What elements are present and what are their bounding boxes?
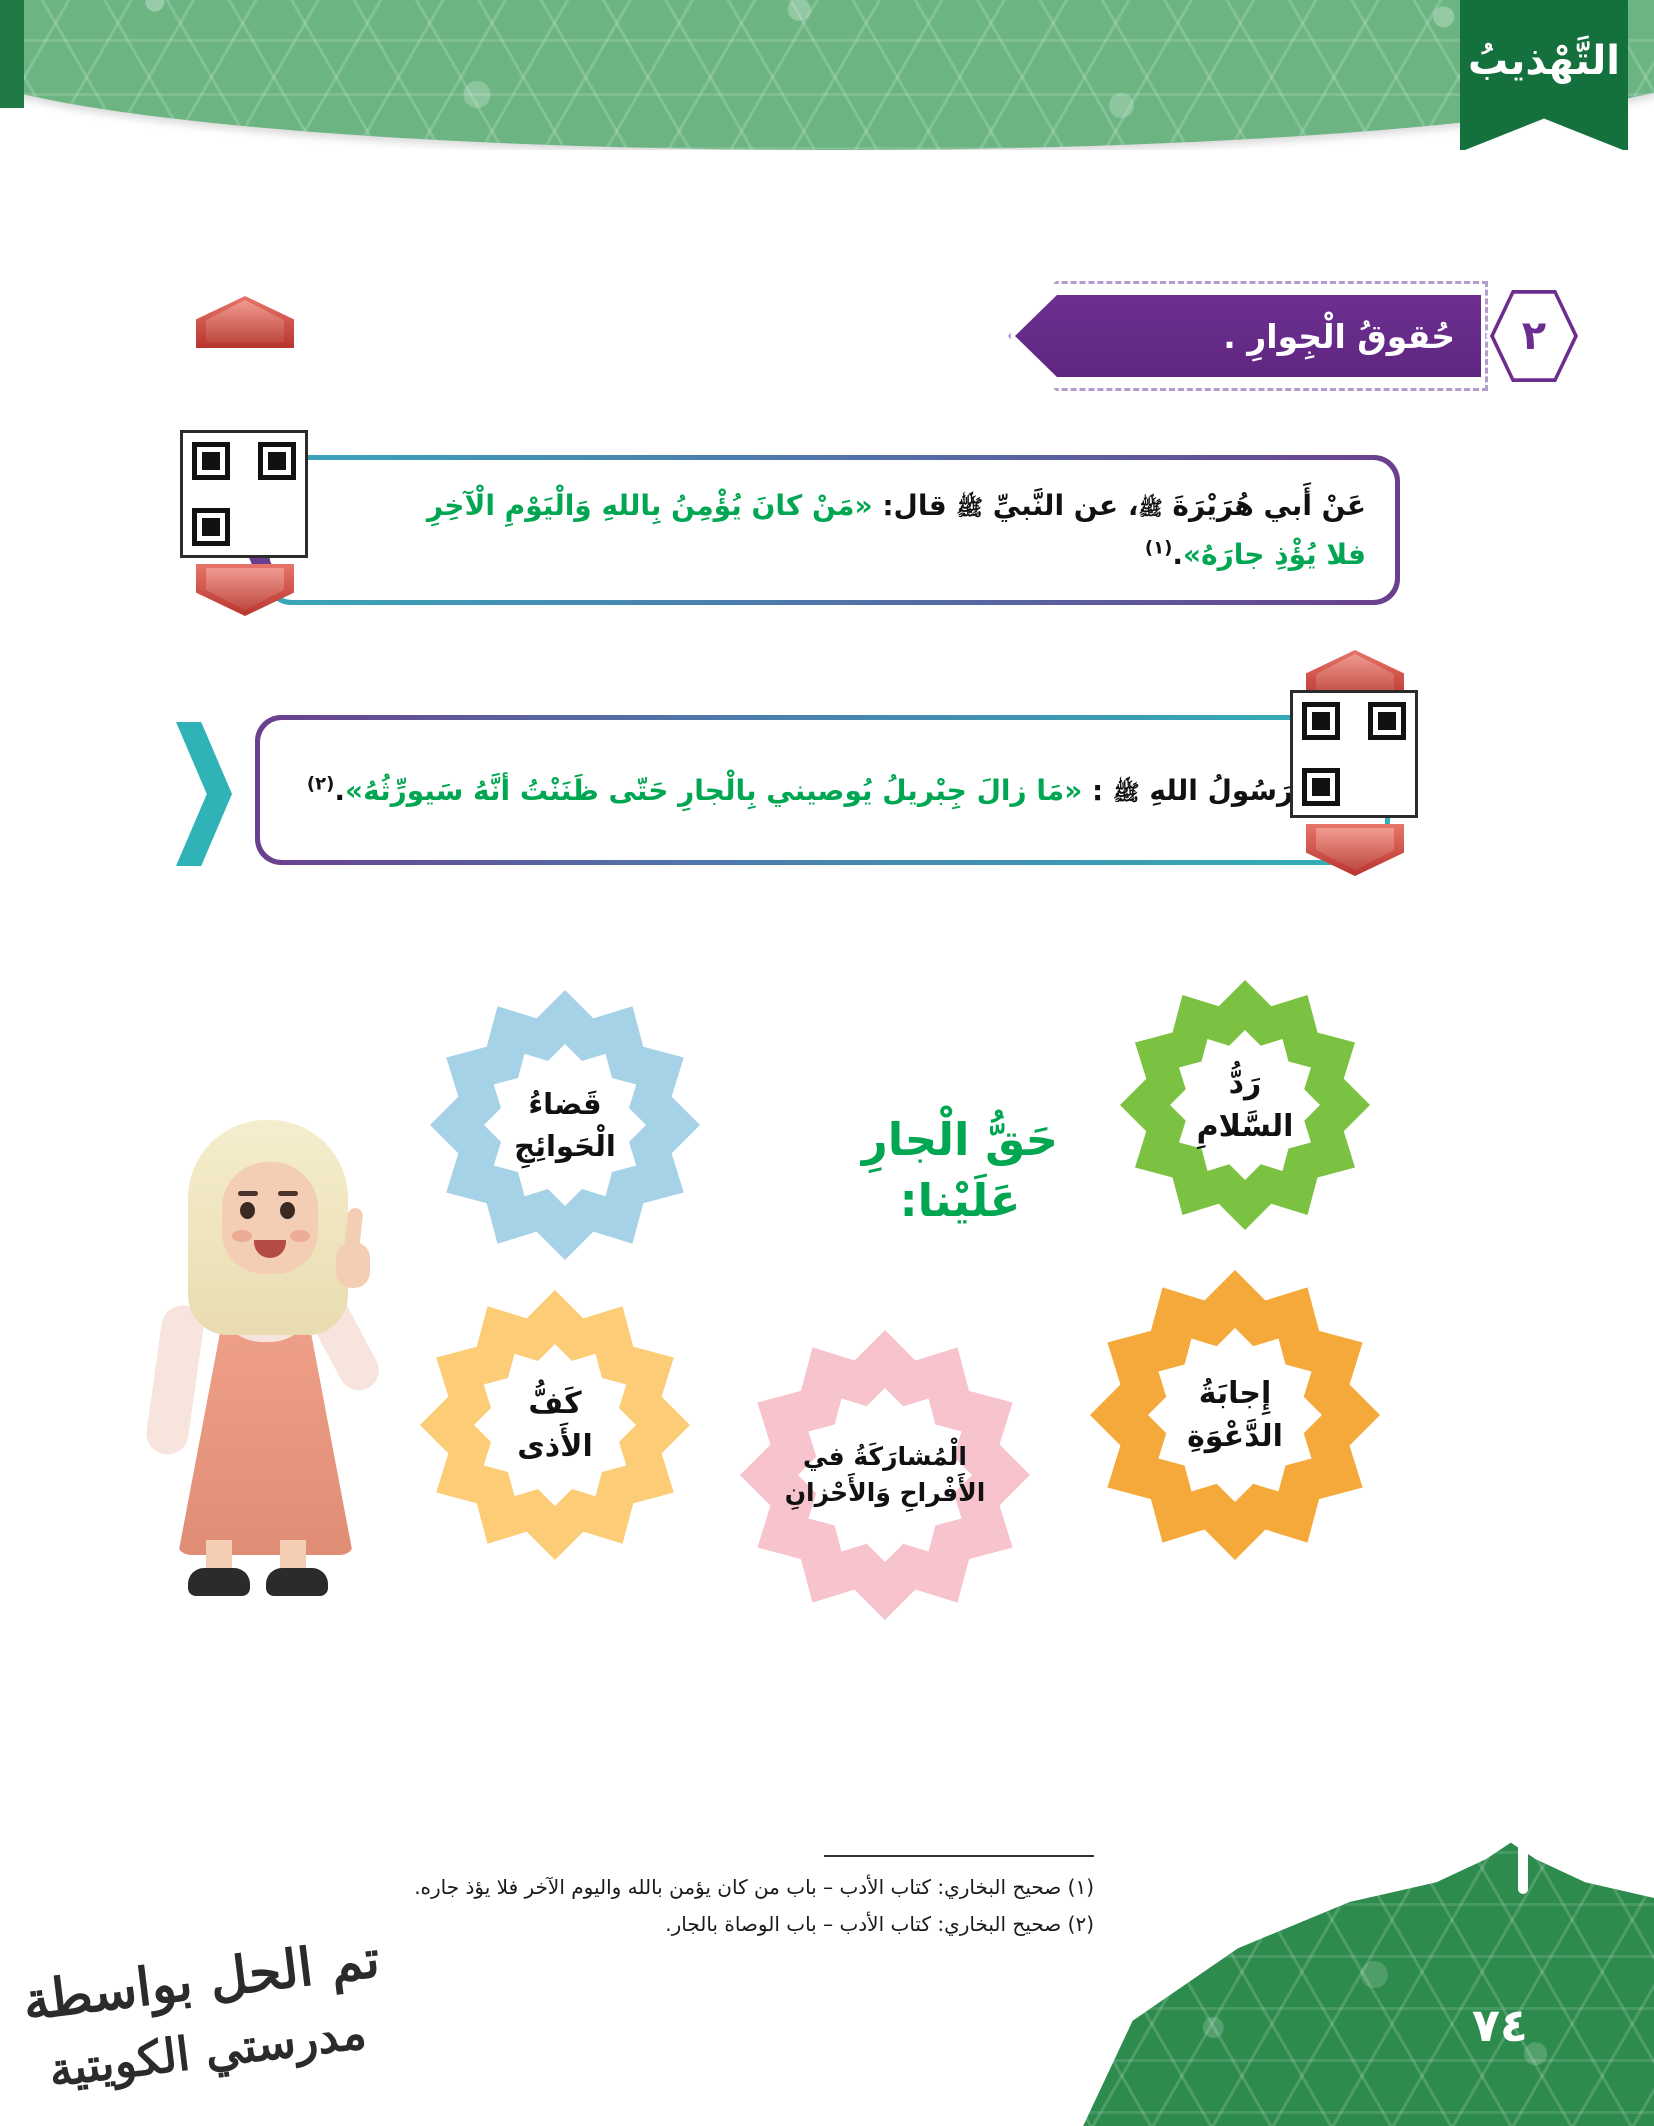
- hadith-2-footnote-marker: (٢): [307, 773, 334, 794]
- qr-finder-top-right: [1368, 702, 1406, 740]
- geometric-pattern: [0, 0, 1654, 150]
- section-title-banner: حُقوقُ الْجِوارِ .: [1015, 295, 1481, 377]
- hadith-card-2: قالَ رَسُولُ اللهِ ﷺ : «مَا زالَ جِبْريل…: [255, 715, 1390, 865]
- unit-title-text: التَّهْذيبُ: [1468, 38, 1620, 84]
- textbook-page: التَّهْذيبُ ٢ حُقوقُ الْجِوارِ . عَنْ أَ…: [0, 0, 1654, 2126]
- hadith-card-2-text: قالَ رَسُولُ اللهِ ﷺ : «مَا زالَ جِبْريل…: [289, 721, 1356, 859]
- ribbon-bottom-hadith-1: [196, 564, 294, 616]
- diagram-node-label: كَفُّ الأَذى: [517, 1382, 593, 1469]
- hadith-1-chain: ، عن النَّبيِّ: [983, 489, 1139, 522]
- chevron-accent-hadith-2: [176, 722, 232, 866]
- qr-finder-top-right: [258, 442, 296, 480]
- unit-title-tab: التَّهْذيبُ: [1460, 0, 1628, 150]
- header-left-accent: [0, 0, 24, 108]
- diagram-node-label: رَدُّ السَّلامِ: [1197, 1062, 1294, 1149]
- footnote-1: (١) صحيح البخاري: كتاب الأدب – باب من كا…: [554, 1869, 1094, 1906]
- mosque-dome-icon: [1052, 1836, 1654, 2126]
- section-number-badge: ٢: [1486, 283, 1582, 389]
- diagram-node-musharaka[interactable]: الْمُشارَكَةُ في الأَفْراحِ وَالأَحْزانِ: [740, 1330, 1030, 1620]
- diagram-node-qadaa-hawaij[interactable]: قَضاءُ الْحَوائِجِ: [430, 990, 700, 1260]
- diagram-node-radd-assalam[interactable]: رَدُّ السَّلامِ: [1120, 980, 1370, 1230]
- hadith-1-said: قال:: [873, 489, 957, 522]
- hadith-2-period: .: [334, 774, 345, 807]
- qr-finder-bottom-left: [1302, 768, 1340, 806]
- qr-code-hadith-2[interactable]: [1290, 690, 1418, 818]
- qr-finder-bottom-left: [192, 508, 230, 546]
- radiallahu-anhu-icon: ﷺ: [1139, 496, 1163, 520]
- hadith-2-colon: :: [1082, 774, 1113, 807]
- hadith-1-footnote-marker: (١): [1145, 538, 1172, 559]
- section-title-text: حُقوقُ الْجِوارِ .: [1223, 317, 1455, 356]
- page-footer: ٧٤: [1044, 1816, 1654, 2126]
- page-number: ٧٤: [1472, 1998, 1528, 2052]
- page-header-banner: التَّهْذيبُ: [0, 0, 1654, 150]
- hadith-1-period: .: [1172, 538, 1183, 571]
- sallallahu-alayhi-wasallam-icon: ﷺ: [956, 496, 983, 521]
- section-title-banner-wrap: حُقوقُ الْجِوارِ .: [1015, 288, 1486, 384]
- diagram-node-label: إِجابَةُ الدَّعْوَةِ: [1187, 1372, 1283, 1459]
- hadith-card-1-text: عَنْ أَبي هُرَيْرَةَ ﷺ، عن النَّبيِّ ﷺ ق…: [299, 461, 1366, 599]
- section-number-text: ٢: [1522, 313, 1546, 359]
- hadith-card-1: عَنْ أَبي هُرَيْرَةَ ﷺ، عن النَّبيِّ ﷺ ق…: [265, 455, 1400, 605]
- section-title-row: ٢ حُقوقُ الْجِوارِ .: [1015, 288, 1578, 384]
- footnote-2: (٢) صحيح البخاري: كتاب الأدب – باب الوصا…: [554, 1906, 1094, 1943]
- hadith-1-quote-line2: فلا يُؤْذِ جارَهُ»: [1183, 538, 1366, 571]
- hadith-1-narrator: عَنْ أَبي هُرَيْرَةَ: [1163, 489, 1366, 522]
- diagram-node-label: قَضاءُ الْحَوائِجِ: [514, 1083, 616, 1167]
- geometric-pattern: [1052, 1836, 1654, 2126]
- diagram-node-ijabat-dawa[interactable]: إِجابَةُ الدَّعْوَةِ: [1090, 1270, 1380, 1560]
- hadith-1-quote-line1: «مَنْ كانَ يُؤْمِنُ بِاللهِ وَالْيَوْمِ …: [427, 489, 873, 522]
- rights-of-neighbor-diagram: حَقُّ الْجارِ عَلَيْنا: رَدُّ السَّلامِ …: [0, 1000, 1654, 1640]
- header-band-pattern: [0, 0, 1654, 150]
- diagram-node-label: الْمُشارَكَةُ في الأَفْراحِ وَالأَحْزانِ: [785, 1439, 986, 1512]
- footnotes-block: (١) صحيح البخاري: كتاب الأدب – باب من كا…: [554, 1855, 1094, 1943]
- hadith-2-quote: «مَا زالَ جِبْريلُ يُوصيني بِالْجارِ حَت…: [345, 774, 1082, 807]
- qr-code-hadith-1[interactable]: [180, 430, 308, 558]
- dome-finial-icon: [1518, 1842, 1528, 1894]
- ribbon-top-hadith-1: [196, 296, 294, 348]
- sallallahu-alayhi-wasallam-icon: ﷺ: [1113, 781, 1140, 806]
- solution-watermark: تم الحل بواسطة مدرستي الكويتية: [14, 1946, 414, 2106]
- qr-finder-top-left: [1302, 702, 1340, 740]
- ribbon-bottom-hadith-2: [1306, 824, 1404, 876]
- qr-finder-top-left: [192, 442, 230, 480]
- diagram-node-kaff-adha[interactable]: كَفُّ الأَذى: [420, 1290, 690, 1560]
- diagram-center-heading: حَقُّ الْجارِ عَلَيْنا:: [830, 1110, 1090, 1232]
